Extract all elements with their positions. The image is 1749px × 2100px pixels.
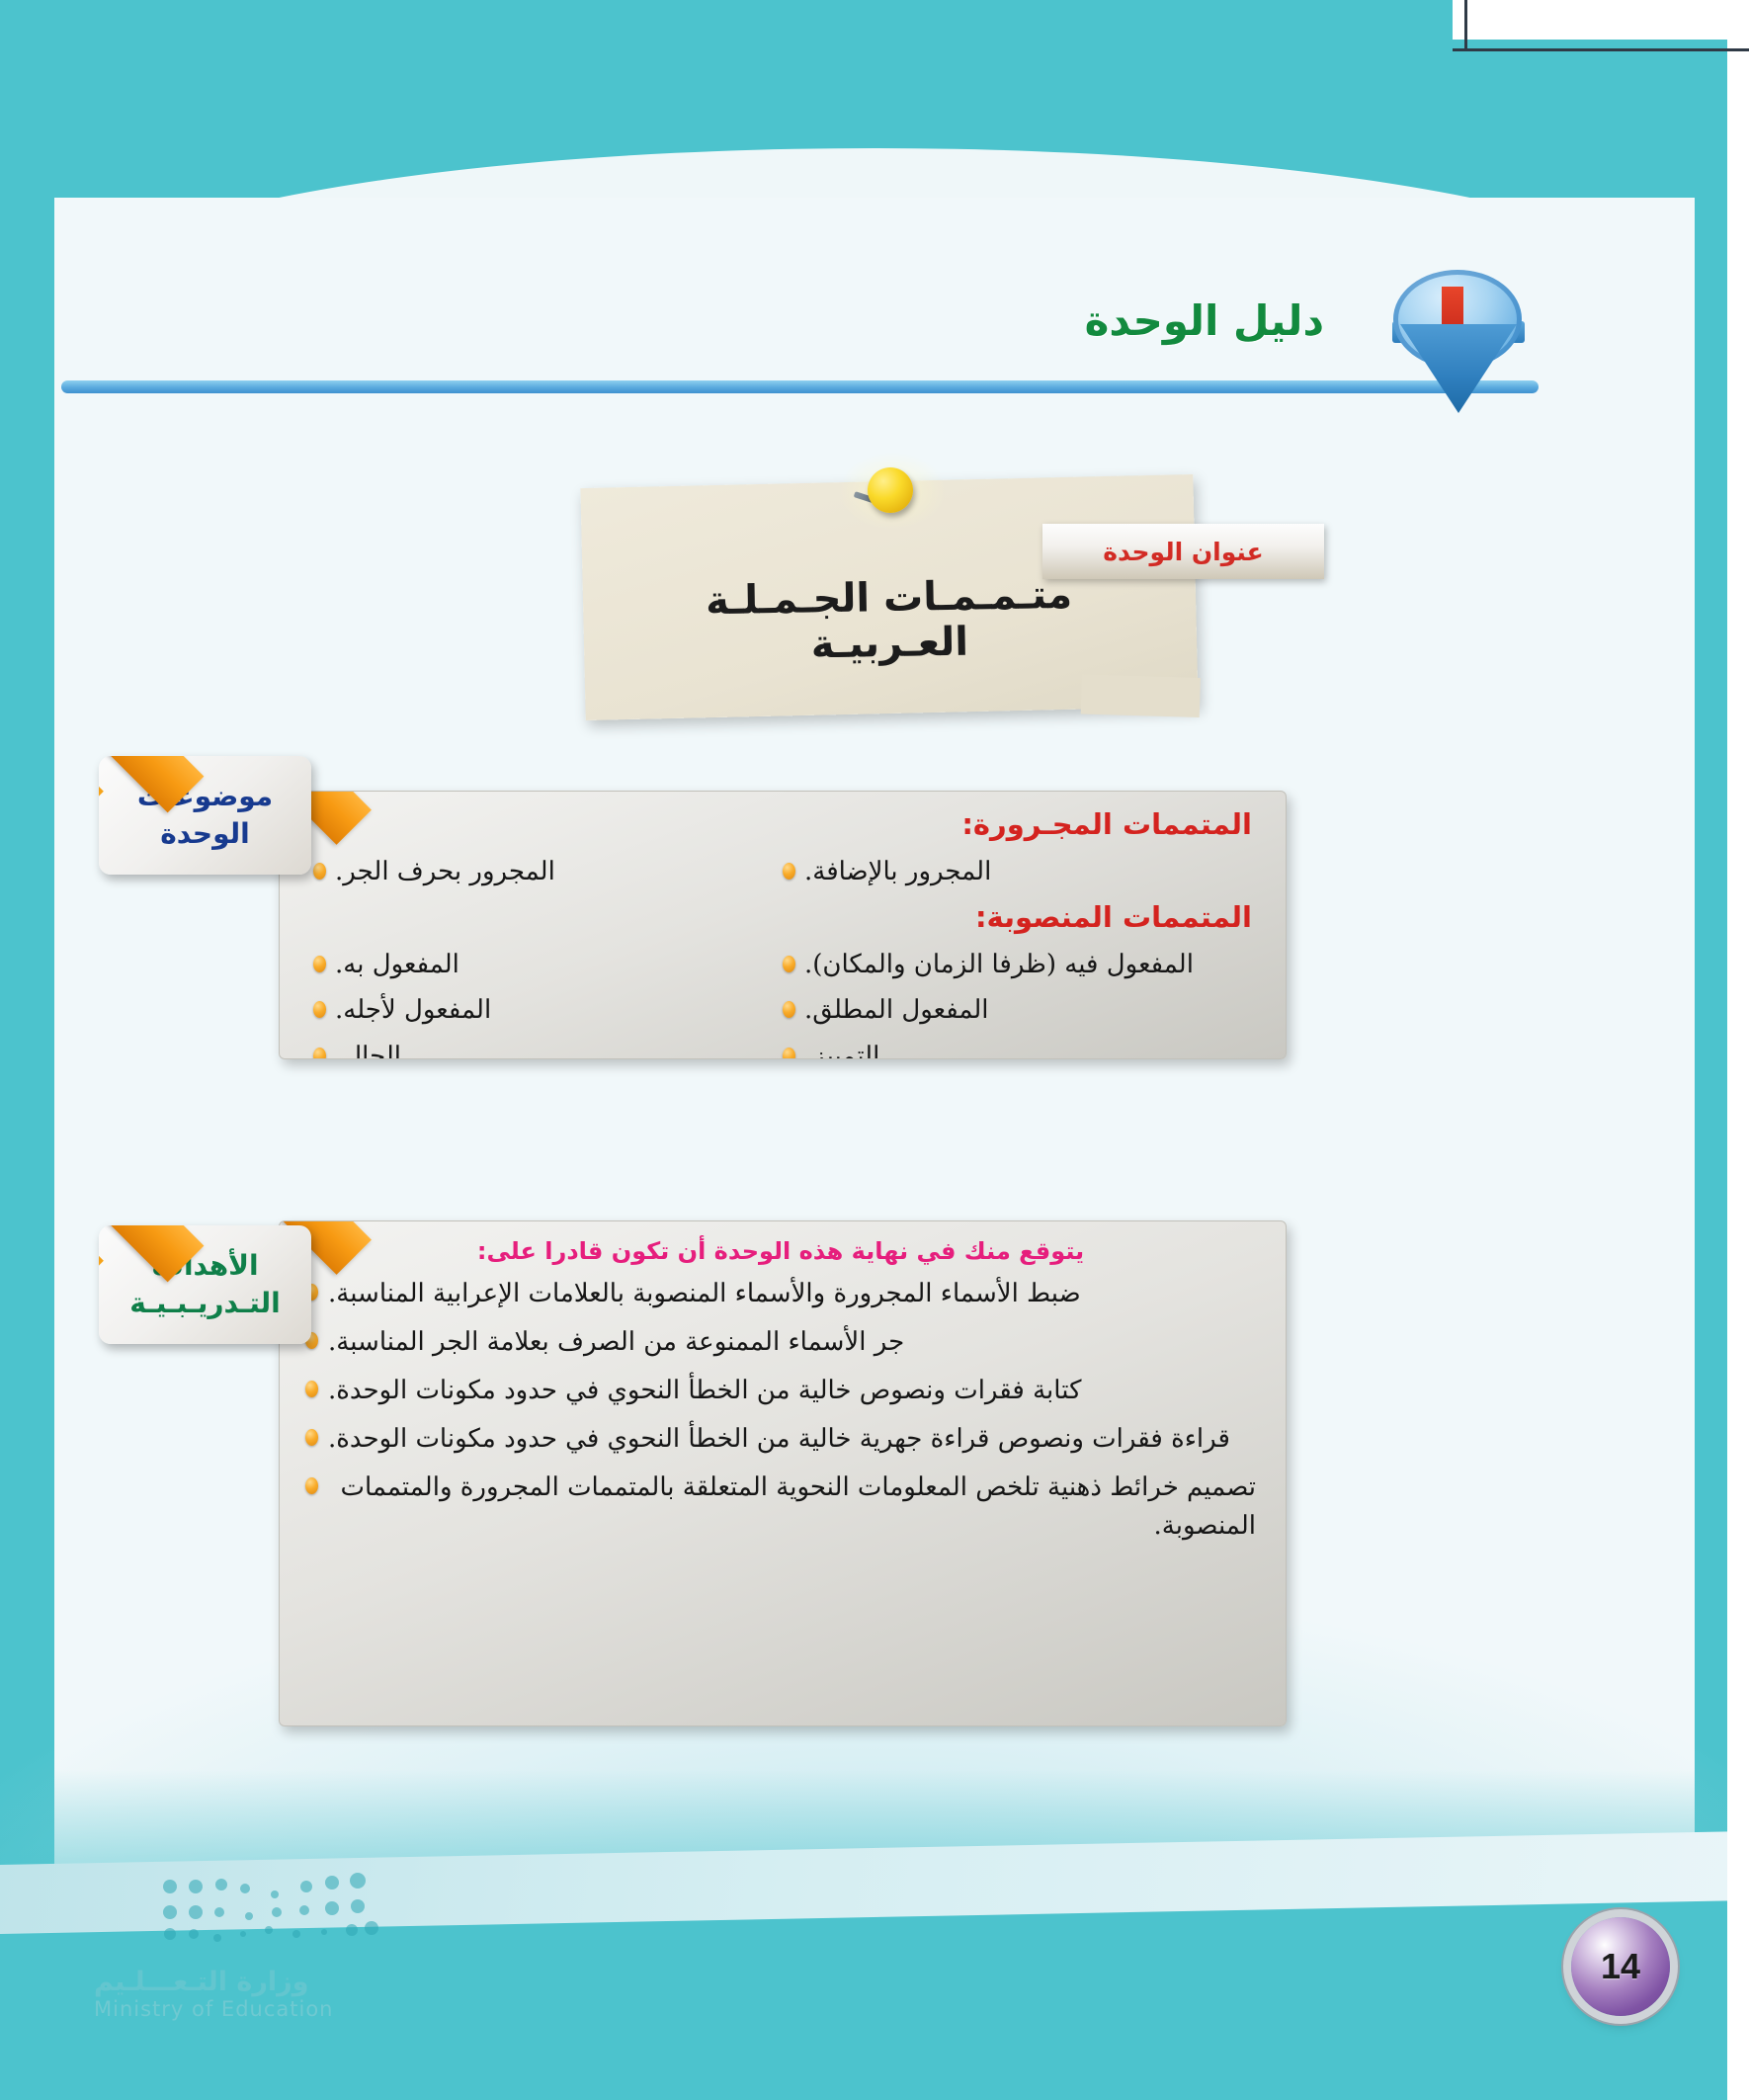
list-item: التمييز. — [783, 1039, 1252, 1059]
ribbon-tail-icon — [99, 756, 104, 829]
pushpin-icon — [862, 463, 917, 525]
section-columns: المفعول به. المفعول لأجله. الحال. — [313, 938, 1252, 1059]
bullet-dot-icon — [305, 1477, 318, 1494]
list-item-label: المفعول به. — [335, 947, 459, 984]
ministry-name-arabic: وزارة التـعـــلـيم — [94, 1967, 333, 1997]
section-column-left: المفعول فيه (ظرفا الزمان والمكان). المفع… — [783, 938, 1252, 1059]
bullet-dot-icon — [313, 1048, 326, 1059]
section-columns: المجرور بحرف الجر. المجرور بالإضافة. — [313, 845, 1252, 900]
list-item: المفعول فيه (ظرفا الزمان والمكان). — [783, 947, 1252, 984]
bullet-dot-icon — [313, 863, 326, 880]
list-item-label: المفعول فيه (ظرفا الزمان والمكان). — [804, 947, 1194, 984]
list-item: المجرور بحرف الجر. — [313, 854, 783, 891]
list-item: الحال. — [313, 1039, 783, 1059]
list-item-label: المجرور بالإضافة. — [804, 854, 991, 891]
unit-title-sticky-note: متـمـمـات الجـمـلـة العـربيـة — [583, 481, 1196, 714]
bullet-dot-icon — [783, 956, 795, 972]
tab-training-goals[interactable]: الأهداف التـدريـبـيـة — [99, 1225, 311, 1344]
bullet-dot-icon — [783, 1048, 795, 1059]
goals-content: يتوقع منك في نهاية هذه الوحدة أن تكون قا… — [280, 1221, 1286, 1565]
list-item-label: جر الأسماء الممنوعة من الصرف بعلامة الجر… — [328, 1323, 904, 1362]
list-item-label: كتابة فقرات ونصوص خالية من الخطأ النحوي … — [328, 1372, 1081, 1410]
panel-training-goals: يتوقع منك في نهاية هذه الوحدة أن تكون قا… — [279, 1220, 1287, 1726]
list-item-label: المفعول المطلق. — [804, 992, 989, 1030]
list-item: ضبط الأسماء المجرورة والأسماء المنصوبة ب… — [305, 1275, 1256, 1313]
tab-topics-line2: الوحدة — [160, 815, 250, 853]
unit-title: متـمـمـات الجـمـلـة العـربيـة — [622, 570, 1157, 670]
section-column-right: المفعول به. المفعول لأجله. الحال. — [313, 938, 783, 1059]
list-item: المفعول المطلق. — [783, 992, 1252, 1030]
right-white-margin — [1727, 0, 1749, 2100]
corner-crop-mark-vertical — [1464, 0, 1467, 51]
tab-unit-topics[interactable]: موضوعات الوحدة — [99, 756, 311, 875]
textbook-page: وزارة التـعـــلـيم Ministry of Education… — [0, 0, 1749, 2100]
bullet-dot-icon — [783, 1001, 795, 1018]
ministry-dots-pattern — [158, 1873, 385, 1942]
list-item-label: الحال. — [335, 1039, 401, 1059]
topics-section-majrura: المتممات المجـرورة: المجرور بحرف الجر. ا… — [313, 807, 1252, 900]
section-column-right: المجرور بحرف الجر. — [313, 845, 783, 900]
bullet-dot-icon — [313, 1001, 326, 1018]
list-item: المفعول به. — [313, 947, 783, 984]
list-item: كتابة فقرات ونصوص خالية من الخطأ النحوي … — [305, 1372, 1256, 1410]
ministry-watermark: وزارة التـعـــلـيم Ministry of Education — [94, 1967, 333, 2021]
list-item: المفعول لأجله. — [313, 992, 783, 1030]
panel-unit-topics: المتممات المجـرورة: المجرور بحرف الجر. ا… — [279, 791, 1287, 1059]
book-badge-icon — [1378, 265, 1537, 383]
ministry-name-english: Ministry of Education — [94, 1997, 333, 2021]
tab-goals-line2: التـدريـبـيـة — [129, 1285, 280, 1322]
top-right-white-margin — [1453, 0, 1749, 40]
page-title: دليل الوحدة — [1085, 296, 1324, 345]
unit-label-badge: عنوان الوحدة — [1042, 524, 1324, 579]
header-divider-rule — [61, 380, 1539, 393]
list-item: تصميم خرائط ذهنية تلخص المعلومات النحوية… — [305, 1469, 1256, 1546]
list-item-label: ضبط الأسماء المجرورة والأسماء المنصوبة ب… — [328, 1275, 1081, 1313]
section-heading: المتممات المنصوبة: — [313, 900, 1252, 934]
section-column-left: المجرور بالإضافة. — [783, 845, 1252, 900]
pushpin-head — [868, 467, 913, 513]
list-item: قراءة فقرات ونصوص قراءة جهرية خالية من ا… — [305, 1420, 1256, 1459]
list-item-label: المفعول لأجله. — [335, 992, 491, 1030]
list-item: المجرور بالإضافة. — [783, 854, 1252, 891]
bullet-dot-icon — [305, 1429, 318, 1446]
corner-crop-mark-horizontal — [1453, 48, 1749, 51]
bullet-dot-icon — [313, 956, 326, 972]
bullet-dot-icon — [305, 1381, 318, 1397]
page-number: 14 — [1571, 1917, 1670, 2016]
list-item: جر الأسماء الممنوعة من الصرف بعلامة الجر… — [305, 1323, 1256, 1362]
bullet-dot-icon — [783, 863, 795, 880]
section-heading: المتممات المجـرورة: — [313, 807, 1252, 841]
topics-content: المتممات المجـرورة: المجرور بحرف الجر. ا… — [280, 792, 1286, 1059]
list-item-label: التمييز. — [804, 1039, 879, 1059]
topics-section-mansuba: المتممات المنصوبة: المفعول به. المفعول ل… — [313, 900, 1252, 1059]
list-item-label: تصميم خرائط ذهنية تلخص المعلومات النحوية… — [328, 1469, 1256, 1546]
list-item-label: قراءة فقرات ونصوص قراءة جهرية خالية من ا… — [328, 1420, 1230, 1459]
goals-heading: يتوقع منك في نهاية هذه الوحدة أن تكون قا… — [305, 1237, 1256, 1265]
list-item-label: المجرور بحرف الجر. — [335, 854, 555, 891]
ribbon-tail-icon — [99, 1225, 104, 1299]
